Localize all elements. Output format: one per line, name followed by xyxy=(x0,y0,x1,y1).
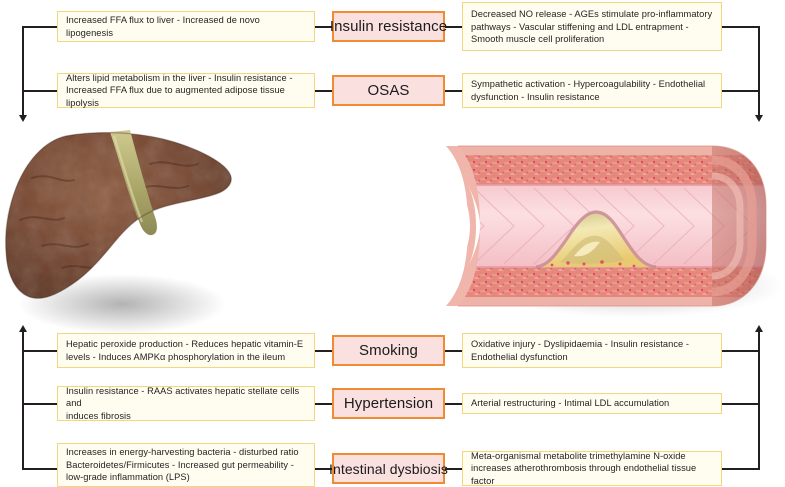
artery-illustration xyxy=(444,136,785,321)
arrow-up-to-artery xyxy=(755,325,763,332)
connector-bottom-left-branch-3 xyxy=(22,468,58,470)
desc-line: Arterial restructuring - Intimal LDL acc… xyxy=(471,397,669,410)
connector-top-left-branch-1 xyxy=(22,26,58,28)
desc-line: Increases in energy-harvesting bacteria … xyxy=(66,446,299,459)
factor-box-hypertension[interactable]: Hypertension xyxy=(332,388,445,419)
connector-top-right-spine xyxy=(758,26,760,116)
desc-line: Sympathetic activation - Hypercoagulabil… xyxy=(471,78,705,91)
desc-box-left-intestinal-dysbiosis: Increases in energy-harvesting bacteria … xyxy=(57,443,315,487)
desc-line: dysfunction - Insulin resistance xyxy=(471,91,705,104)
connector-top-right-branch-2 xyxy=(722,90,760,92)
connector-right-osas xyxy=(445,90,462,92)
connector-right-insulin-resistance xyxy=(445,26,462,28)
desc-line: Decreased NO release - AGEs stimulate pr… xyxy=(471,8,712,21)
desc-box-left-smoking: Hepatic peroxide production - Reduces he… xyxy=(57,333,315,368)
desc-line: pathways - Vascular stiffening and LDL e… xyxy=(471,21,712,34)
connector-bottom-right-branch-2 xyxy=(722,403,760,405)
desc-line: Bacteroidetes/Firmicutes - Increased gut… xyxy=(66,459,299,472)
desc-box-left-osas: Alters lipid metabolism in the liver - I… xyxy=(57,73,315,108)
desc-line: Alters lipid metabolism in the liver - I… xyxy=(66,72,307,85)
connector-top-left-spine xyxy=(22,26,24,116)
desc-line: Meta-organismal metabolite trimethylamin… xyxy=(471,450,714,463)
connector-bottom-right-branch-3 xyxy=(722,468,760,470)
desc-box-right-smoking: Oxidative injury - Dyslipidaemia - Insul… xyxy=(462,333,722,368)
factor-box-smoking[interactable]: Smoking xyxy=(332,335,445,366)
factor-box-intestinal-dysbiosis[interactable]: Intestinal dysbiosis xyxy=(332,453,445,484)
desc-box-right-insulin-resistance: Decreased NO release - AGEs stimulate pr… xyxy=(462,2,722,51)
desc-line: increases atherothrombosis through endot… xyxy=(471,462,714,487)
connector-bottom-left-branch-2 xyxy=(22,403,58,405)
desc-box-left-hypertension: Insulin resistance - RAAS activates hepa… xyxy=(57,386,315,421)
arrow-up-to-liver xyxy=(19,325,27,332)
desc-line: low-grade inflammation (LPS) xyxy=(66,471,299,484)
desc-line: levels - Induces AMPKα phosphorylation i… xyxy=(66,351,303,364)
arrow-down-to-liver xyxy=(19,115,27,122)
connector-left-smoking xyxy=(315,350,332,352)
desc-line: Increased FFA flux due to augmented adip… xyxy=(66,84,307,109)
factor-box-insulin-resistance[interactable]: Insulin resistance xyxy=(332,11,445,42)
liver-illustration xyxy=(2,128,234,338)
desc-line: Hepatic peroxide production - Reduces he… xyxy=(66,338,303,351)
connector-right-smoking xyxy=(445,350,462,352)
arrow-down-to-artery xyxy=(755,115,763,122)
desc-line: Increased FFA flux to liver - Increased … xyxy=(66,14,307,39)
desc-box-left-insulin-resistance: Increased FFA flux to liver - Increased … xyxy=(57,11,315,42)
connector-left-hypertension xyxy=(315,403,332,405)
connector-bottom-right-spine xyxy=(758,332,760,470)
desc-line: induces fibrosis xyxy=(66,410,307,423)
desc-line: Insulin resistance - RAAS activates hepa… xyxy=(66,385,307,410)
desc-line: Oxidative injury - Dyslipidaemia - Insul… xyxy=(471,338,689,351)
desc-line: Smooth muscle cell proliferation xyxy=(471,33,712,46)
diagram-canvas: Increased FFA flux to liver - Increased … xyxy=(0,0,785,487)
desc-box-right-osas: Sympathetic activation - Hypercoagulabil… xyxy=(462,73,722,108)
connector-top-left-branch-2 xyxy=(22,90,58,92)
desc-box-right-hypertension: Arterial restructuring - Intimal LDL acc… xyxy=(462,393,722,414)
connector-bottom-left-branch-1 xyxy=(22,350,58,352)
connector-bottom-left-spine xyxy=(22,332,24,470)
connector-left-osas xyxy=(315,90,332,92)
connector-right-intestinal-dysbiosis xyxy=(445,468,462,470)
connector-right-hypertension xyxy=(445,403,462,405)
desc-box-right-intestinal-dysbiosis: Meta-organismal metabolite trimethylamin… xyxy=(462,451,722,486)
artery-lumen-cut xyxy=(446,185,470,267)
connector-bottom-right-branch-1 xyxy=(722,350,760,352)
factor-box-osas[interactable]: OSAS xyxy=(332,75,445,106)
connector-top-right-branch-1 xyxy=(722,26,760,28)
desc-line: Endothelial dysfunction xyxy=(471,351,689,364)
